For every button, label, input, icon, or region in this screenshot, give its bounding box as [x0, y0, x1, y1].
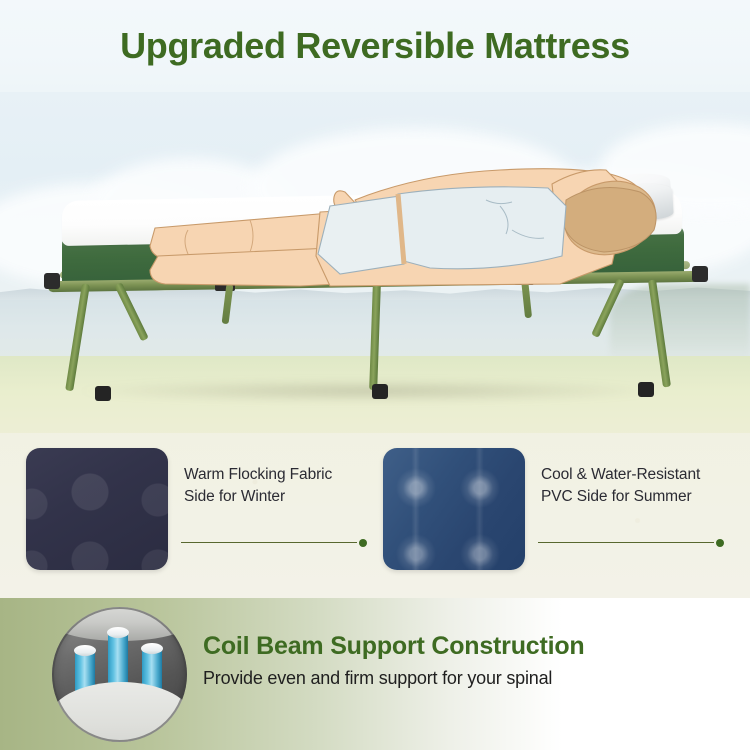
feature-label-line2: Side for Winter [184, 486, 384, 508]
coil-beam-icon [52, 607, 187, 742]
pvc-fabric-swatch-icon [383, 448, 525, 570]
sleeping-person-illustration [0, 88, 750, 433]
connector-stroke [181, 542, 357, 543]
feature-label-line1: Warm Flocking Fabric [184, 464, 384, 486]
coil-icon-rim [52, 607, 187, 742]
coil-beam-text-block: Coil Beam Support Construction Provide e… [203, 632, 723, 689]
connector-line-cool-pvc [538, 542, 724, 544]
feature-label-line1: Cool & Water-Resistant [541, 464, 741, 486]
connector-dot-icon [716, 539, 724, 547]
hero-product-photo [0, 88, 750, 433]
header-bar: Upgraded Reversible Mattress [0, 0, 750, 92]
connector-line-warm-flocking [181, 542, 367, 544]
coil-beam-panel: Coil Beam Support Construction Provide e… [0, 598, 750, 750]
coil-beam-heading: Coil Beam Support Construction [203, 632, 723, 661]
feature-label-warm-flocking: Warm Flocking Fabric Side for Winter [184, 464, 384, 508]
product-infographic: Upgraded Reversible Mattress Warm Flocki… [0, 0, 750, 750]
flocking-fabric-swatch-icon [26, 448, 168, 570]
page-title: Upgraded Reversible Mattress [120, 28, 630, 64]
coil-beam-subtitle: Provide even and firm support for your s… [203, 668, 723, 690]
feature-label-line2: PVC Side for Summer [541, 486, 741, 508]
feature-swatch-section: Warm Flocking Fabric Side for Winter Coo… [0, 432, 750, 592]
connector-stroke [538, 542, 714, 543]
connector-dot-icon [359, 539, 367, 547]
feature-label-cool-pvc: Cool & Water-Resistant PVC Side for Summ… [541, 464, 741, 508]
